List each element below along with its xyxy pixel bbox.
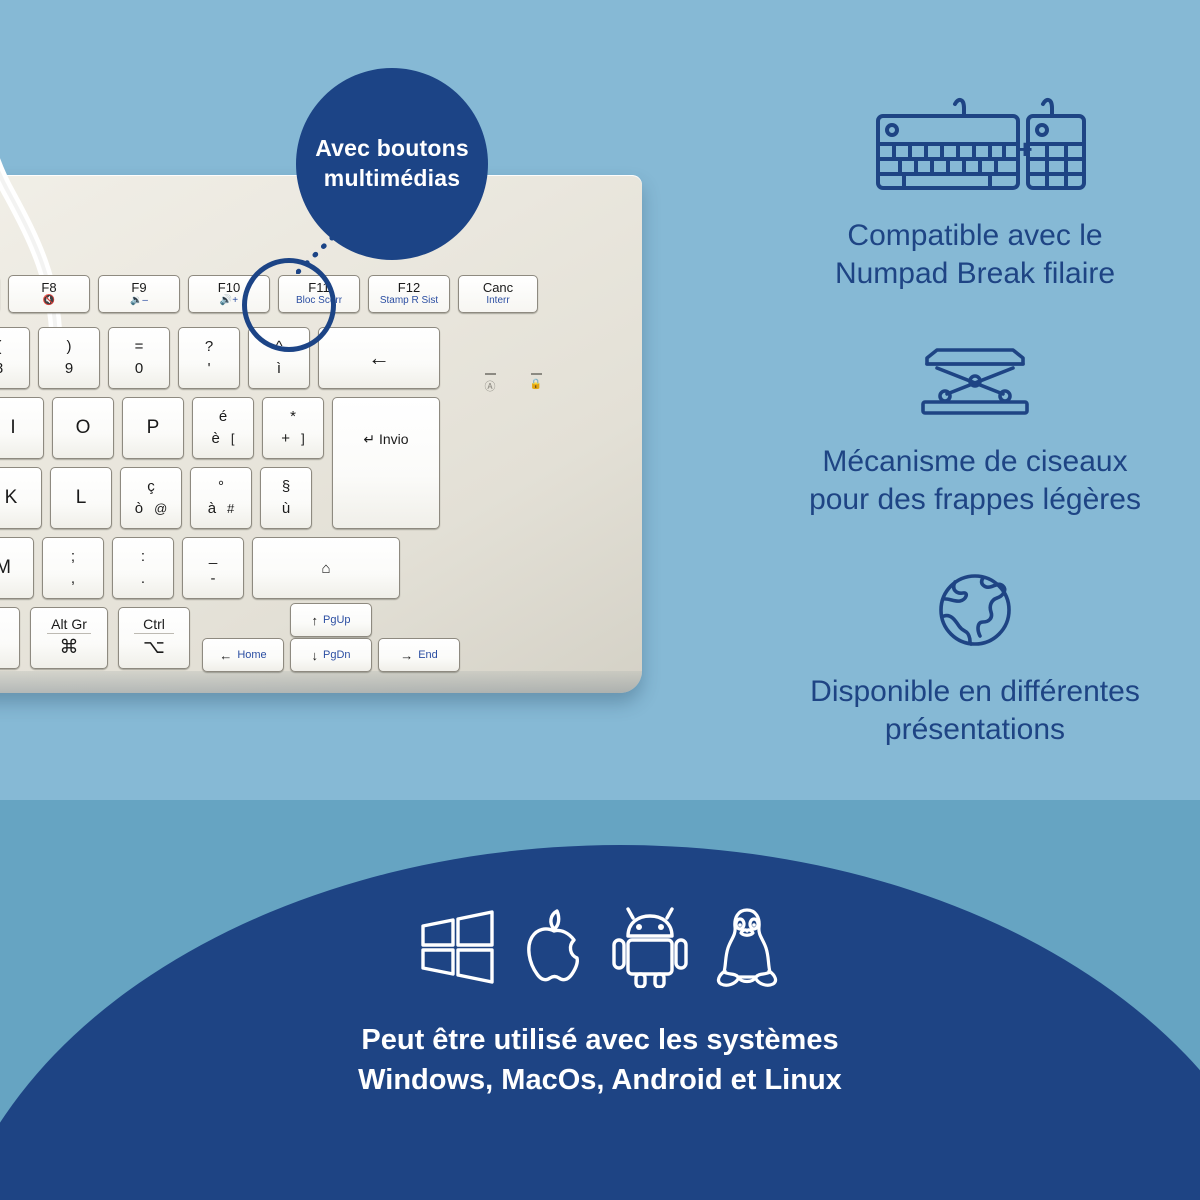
feature-item-scissor: Mécanisme de ciseaux pour des frappes lé…: [760, 342, 1190, 518]
key-sublabel: Stamp R Sist: [380, 296, 438, 307]
badge-text: Avec boutons multimédias: [296, 134, 488, 194]
key-sublabel: Interr: [486, 296, 509, 307]
key-comma[interactable]: ; ,: [42, 537, 104, 599]
key-shift-right[interactable]: ⌂: [252, 537, 400, 599]
key-label: ⌂: [321, 560, 330, 577]
key-label: F9: [131, 281, 146, 295]
key-period[interactable]: : .: [112, 537, 174, 599]
key-backspace[interactable]: ←: [318, 327, 440, 389]
key-sublabel: 🔊+: [220, 296, 238, 307]
key-bottom-label: +: [281, 431, 290, 448]
key-sublabel: End: [418, 649, 438, 661]
key-label: Ctrl: [143, 617, 165, 632]
key-altgr-label: #: [227, 501, 234, 516]
key-top-label: *: [290, 409, 296, 426]
key-label-group: → End: [400, 648, 438, 663]
key-label: Canc: [483, 281, 513, 295]
key-home[interactable]: ← Home: [202, 638, 284, 672]
key-f12[interactable]: F12 Stamp R Sist: [368, 275, 450, 313]
key-m[interactable]: M: [0, 537, 34, 599]
key-top-label: ?: [205, 339, 213, 356]
key-arrow-glyph: →: [400, 648, 413, 663]
key-arrow-glyph: ←: [219, 648, 232, 663]
key-top-label: ;: [71, 549, 75, 566]
key-sublabel: 🔇: [43, 296, 55, 307]
key-bottom-labels: ò @: [135, 501, 168, 518]
key-label-group: ↑ PgUp: [311, 613, 350, 628]
key-sublabel: ⌥: [143, 636, 165, 659]
key-top-label: (: [0, 339, 2, 356]
key-bottom-label: à: [208, 501, 216, 518]
key-f9[interactable]: F9 🔉–: [98, 275, 180, 313]
key-k[interactable]: K: [0, 467, 42, 529]
key-label: L: [76, 487, 87, 509]
key-bottom-label: ù: [282, 501, 290, 518]
key-ograve[interactable]: ç ò @: [120, 467, 182, 529]
key-arrow-glyph: ↑: [311, 613, 318, 628]
key-ctrl[interactable]: Ctrl ⌥: [118, 607, 190, 669]
key-altgr-label: ]: [301, 431, 305, 446]
key-label: ↵ Invio: [363, 431, 408, 448]
key-bottom-label: 0: [135, 361, 143, 378]
key-top-label: ): [67, 339, 72, 356]
key-label-group: ← Home: [219, 648, 266, 663]
key-egrave[interactable]: é è [: [192, 397, 254, 459]
key-0[interactable]: = 0: [108, 327, 170, 389]
key-enter[interactable]: ↵ Invio: [332, 397, 440, 529]
key-label: I: [10, 417, 15, 439]
key-top-label: ç: [147, 479, 155, 496]
key-altgr-label: [: [231, 431, 235, 446]
key-altgr-label: @: [154, 501, 167, 516]
key-top-label: =: [135, 339, 144, 356]
key-bottom-label: 9: [65, 361, 73, 378]
key-label: ←: [368, 345, 390, 371]
key-label: M: [0, 557, 11, 579]
android-icon: [611, 906, 689, 993]
key-sublabel: ⌘: [60, 636, 79, 659]
windows-icon: [417, 907, 497, 992]
feature-item-layouts: Disponible en différentes présentations: [760, 568, 1190, 748]
key-pgup[interactable]: ↑ PgUp: [290, 603, 372, 637]
feature-list: + Compatible avec le Numpad Break filair…: [760, 96, 1190, 748]
key-9[interactable]: ) 9: [38, 327, 100, 389]
key-l[interactable]: L: [50, 467, 112, 529]
key-top-label: _: [209, 549, 217, 566]
key-label: F10: [218, 281, 240, 295]
key-label-group: ↓ PgDn: [311, 648, 350, 663]
key-agrave[interactable]: ° à #: [190, 467, 252, 529]
key-label: F8: [41, 281, 56, 295]
key-i[interactable]: I: [0, 397, 44, 459]
apple-icon: [519, 907, 589, 992]
key-canc[interactable]: Canc Interr: [458, 275, 538, 313]
key-bottom-labels: è [: [212, 431, 235, 448]
svg-text:+: +: [1017, 134, 1032, 164]
key-bottom-label: ,: [71, 571, 75, 588]
key-bottom-label: ò: [135, 501, 143, 518]
feature-text: Compatible avec le Numpad Break filaire: [835, 217, 1115, 292]
key-sublabel: PgUp: [323, 614, 351, 626]
key-sublabel: 🔉–: [130, 296, 148, 307]
key-minus[interactable]: _ -: [182, 537, 244, 599]
key-pgdn[interactable]: ↓ PgDn: [290, 638, 372, 672]
globe-icon: [933, 568, 1017, 657]
key-bottom-label: è: [212, 431, 220, 448]
product-feature-infographic: Ⓐ 🔒 F6 ▶❙❙ F7 ▶❙ F8 🔇 F9 🔉–: [0, 0, 1200, 1200]
key-label: K: [5, 487, 18, 509]
key-bottom-label: ': [208, 361, 211, 378]
key-apostrophe[interactable]: ? ': [178, 327, 240, 389]
key-f8[interactable]: F8 🔇: [8, 275, 90, 313]
scissor-mechanism-icon: [915, 342, 1035, 427]
key-top-label: é: [219, 409, 227, 426]
key-top-label: °: [218, 479, 224, 496]
key-o[interactable]: O: [52, 397, 114, 459]
key-label: Alt Gr: [51, 617, 87, 632]
multimedia-buttons-badge: Avec boutons multimédias: [296, 68, 488, 260]
key-label: P: [147, 417, 160, 439]
key-bottom-labels: à #: [208, 501, 235, 518]
key-label: O: [76, 417, 91, 439]
feature-text: Mécanisme de ciseaux pour des frappes lé…: [809, 443, 1141, 518]
os-caption-text: Peut être utilisé avec les systèmes Wind…: [358, 1020, 842, 1100]
key-plus[interactable]: * + ]: [262, 397, 324, 459]
key-bottom-label: .: [141, 571, 145, 588]
key-8[interactable]: ( 8: [0, 327, 30, 389]
key-bottom-label: -: [211, 571, 216, 588]
key-spacebar[interactable]: [0, 607, 20, 669]
key-end[interactable]: → End: [378, 638, 460, 672]
key-ugrave[interactable]: § ù: [260, 467, 312, 529]
key-altgr[interactable]: Alt Gr ⌘: [30, 607, 108, 669]
key-label: F12: [398, 281, 420, 295]
key-sublabel: PgDn: [323, 649, 351, 661]
linux-penguin-icon: [711, 905, 783, 994]
key-bottom-label: ì: [277, 361, 281, 378]
key-p[interactable]: P: [122, 397, 184, 459]
key-arrow-glyph: ↓: [311, 648, 318, 663]
keyboard-plus-numpad-icon: +: [860, 96, 1090, 201]
key-bottom-labels: + ]: [281, 431, 304, 448]
os-compatibility-banner: Peut être utilisé avec les systèmes Wind…: [0, 905, 1200, 1100]
os-icon-row: [417, 905, 783, 994]
key-top-label: :: [141, 549, 145, 566]
key-top-label: §: [282, 479, 290, 496]
key-bottom-label: 8: [0, 361, 3, 378]
feature-text: Disponible en différentes présentations: [810, 673, 1140, 748]
feature-item-compatible: + Compatible avec le Numpad Break filair…: [760, 96, 1190, 292]
key-sublabel: Home: [237, 649, 266, 661]
